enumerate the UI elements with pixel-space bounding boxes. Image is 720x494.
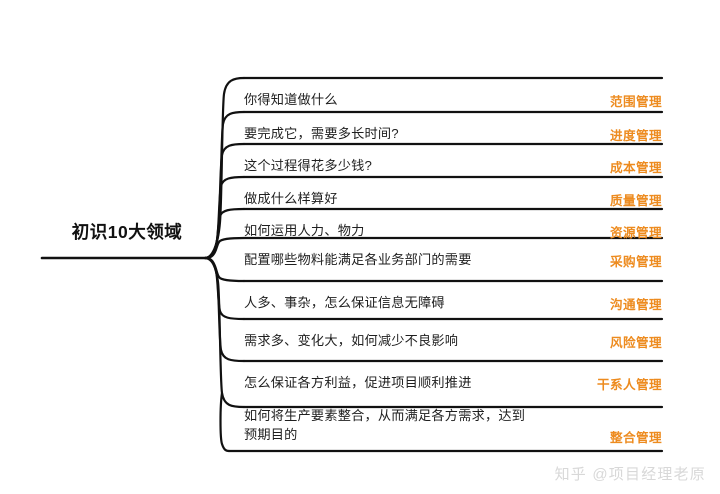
branch-tag-9: 干系人管理 bbox=[597, 374, 662, 393]
branch-curve-3 bbox=[205, 144, 244, 258]
branch-curve-2 bbox=[205, 112, 244, 258]
branch-curve-7 bbox=[205, 258, 244, 281]
branch-curve-6 bbox=[205, 238, 244, 258]
branch-question-8: 需求多、变化大，如何减少不良影响 bbox=[244, 331, 610, 350]
branch-row-8[interactable]: 需求多、变化大，如何减少不良影响 风险管理 bbox=[244, 321, 662, 361]
branch-tag-2: 进度管理 bbox=[610, 125, 662, 144]
branch-question-6: 配置哪些物料能满足各业务部门的需要 bbox=[244, 250, 610, 269]
branch-row-10[interactable]: 如何将生产要素整合，从而满足各方需求，达到 预期目的 整合管理 bbox=[244, 400, 662, 450]
branch-curve-1 bbox=[205, 78, 244, 258]
branch-curve-10 bbox=[205, 258, 244, 407]
branch-tag-6: 采购管理 bbox=[610, 251, 662, 270]
branch-tag-1: 范围管理 bbox=[610, 91, 662, 110]
branch-row-7[interactable]: 人多、事杂，怎么保证信息无障碍 沟通管理 bbox=[244, 283, 662, 323]
branch-curve-10-bottom bbox=[221, 393, 230, 451]
branch-curve-5 bbox=[205, 209, 244, 258]
branch-curve-9 bbox=[205, 258, 244, 361]
branch-question-1: 你得知道做什么 bbox=[244, 90, 610, 109]
branch-tag-10: 整合管理 bbox=[610, 427, 662, 450]
branch-question-10: 如何将生产要素整合，从而满足各方需求，达到 预期目的 bbox=[244, 406, 610, 444]
branch-row-9[interactable]: 怎么保证各方利益，促进项目顺利推进 干系人管理 bbox=[244, 363, 662, 403]
branch-tag-8: 风险管理 bbox=[610, 332, 662, 351]
branch-curve-8 bbox=[205, 258, 244, 319]
branch-curve-4 bbox=[205, 177, 244, 258]
branch-question-4: 做成什么样算好 bbox=[244, 189, 610, 208]
branch-question-7: 人多、事杂，怎么保证信息无障碍 bbox=[244, 293, 610, 312]
branch-question-2: 要完成它，需要多长时间? bbox=[244, 124, 610, 143]
branch-question-3: 这个过程得花多少钱? bbox=[244, 156, 610, 175]
branch-tag-5: 资源管理 bbox=[610, 222, 662, 241]
watermark: 知乎 @项目经理老原 bbox=[555, 463, 706, 484]
root-node[interactable]: 初识10大领域 bbox=[52, 222, 202, 243]
root-node-label: 初识10大领域 bbox=[72, 222, 182, 242]
branch-question-9: 怎么保证各方利益，促进项目顺利推进 bbox=[244, 373, 597, 392]
branch-question-5: 如何运用人力、物力 bbox=[244, 221, 610, 240]
branch-tag-4: 质量管理 bbox=[610, 190, 662, 209]
mindmap-canvas: 初识10大领域 你得知道做什么 范围管理 要完成它，需要多长时间? 进度管理 这… bbox=[0, 0, 720, 494]
branch-tag-7: 沟通管理 bbox=[610, 294, 662, 313]
watermark-text: 知乎 @项目经理老原 bbox=[555, 466, 706, 483]
branch-row-6[interactable]: 配置哪些物料能满足各业务部门的需要 采购管理 bbox=[244, 240, 662, 280]
branch-tag-3: 成本管理 bbox=[610, 157, 662, 176]
